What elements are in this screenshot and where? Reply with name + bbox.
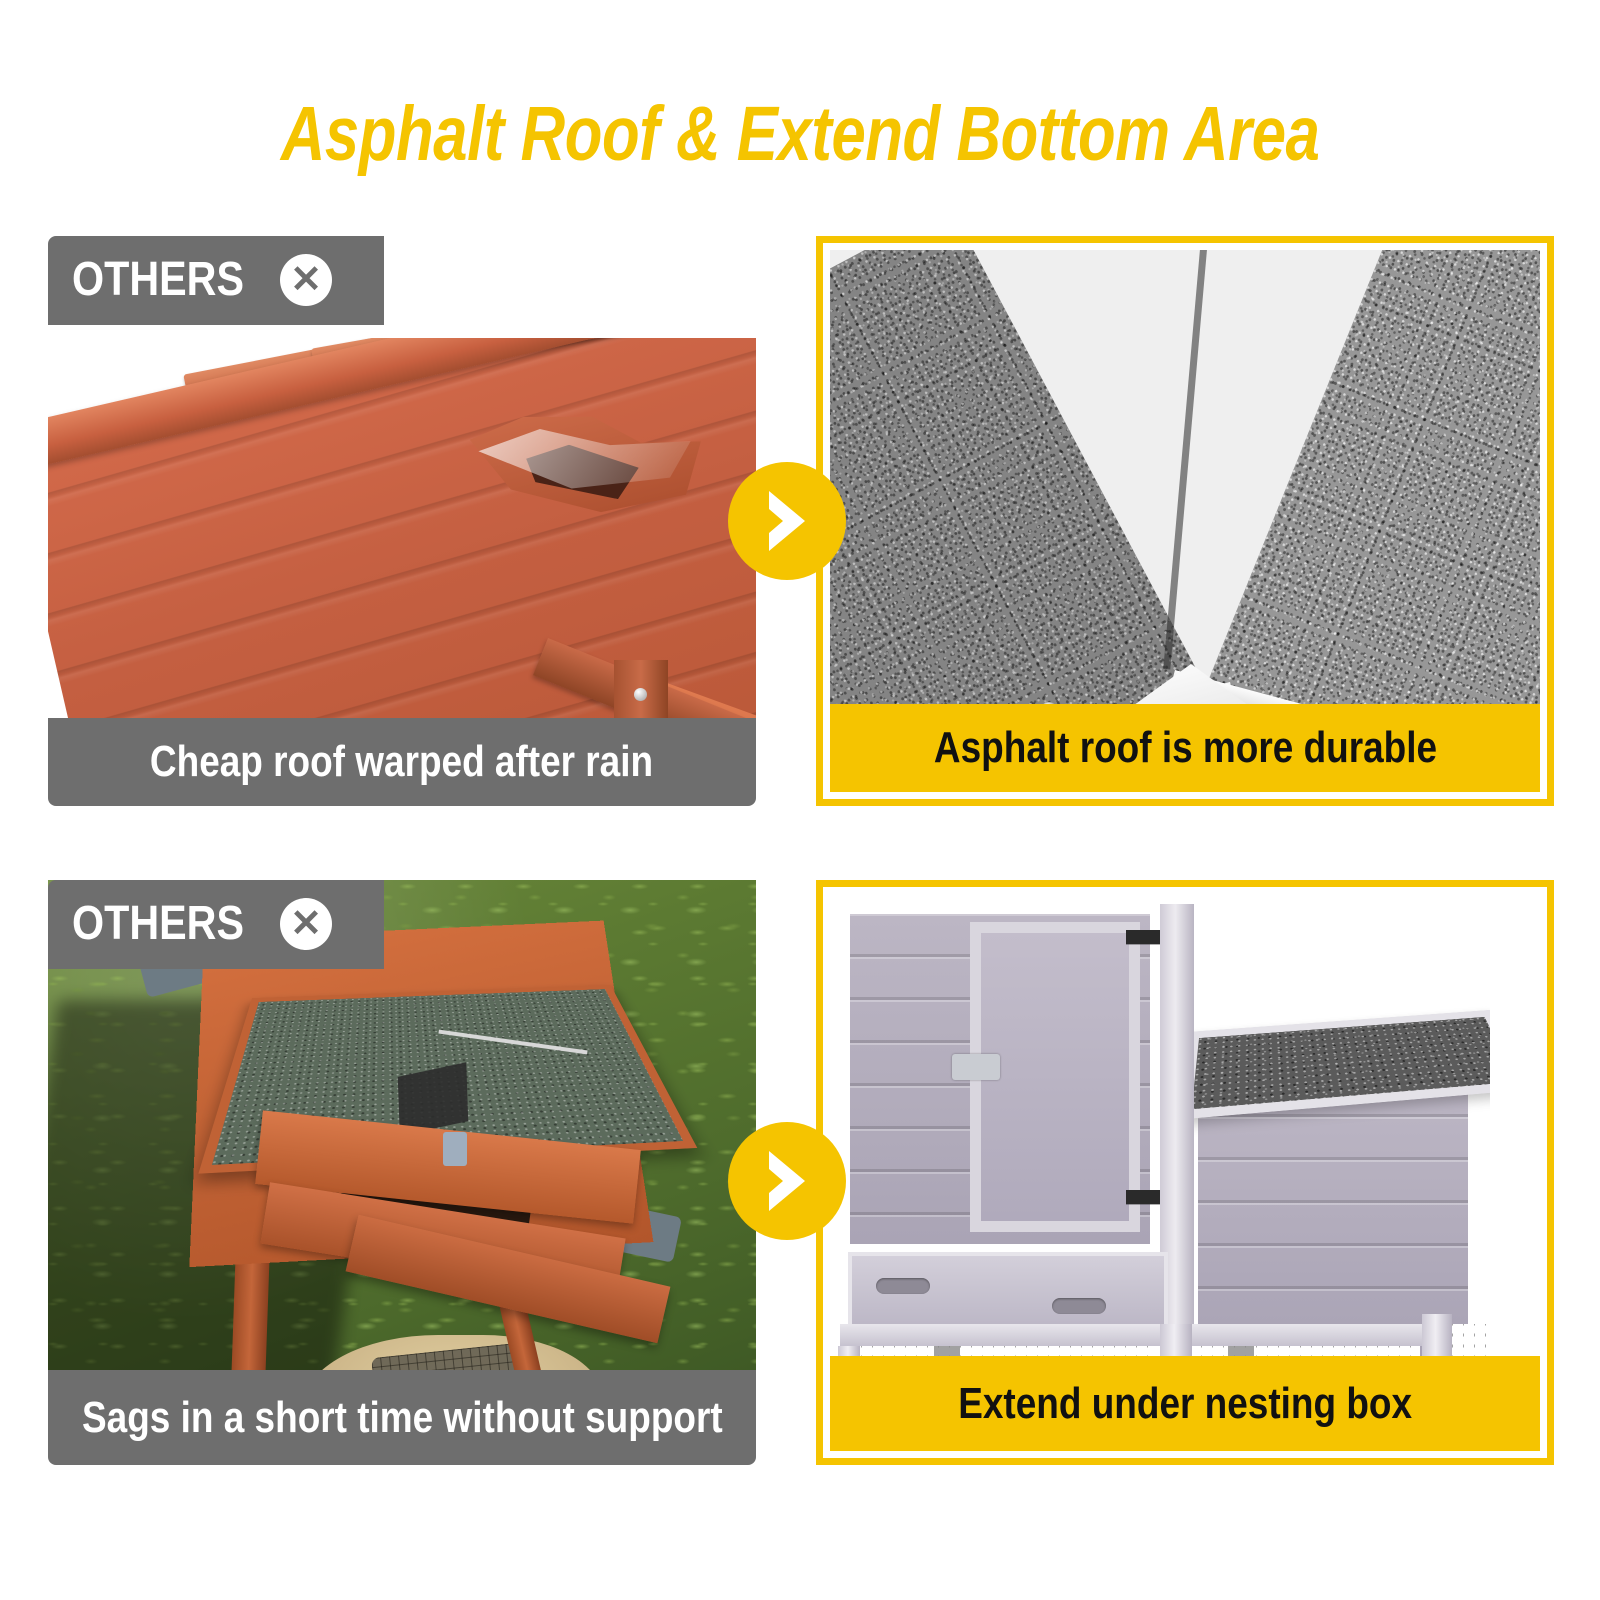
photo-extended-nesting-box (830, 894, 1540, 1363)
br-tray-handle (1052, 1298, 1106, 1314)
chevron-right-icon (728, 1122, 846, 1240)
caption-top-left-text: Cheap roof warped after rain (150, 737, 653, 787)
tl-screw (634, 688, 647, 701)
caption-bottom-left: Sags in a short time without support (48, 1370, 756, 1465)
caption-bottom-right-text: Extend under nesting box (958, 1379, 1412, 1429)
badge-others-bottom-left: OTHERS ✕ (48, 880, 384, 969)
br-door-latch (952, 1054, 1000, 1080)
x-mark-icon: ✕ (280, 254, 332, 306)
chevron-right-icon (728, 462, 846, 580)
photo-cheap-warped-roof (48, 338, 756, 718)
br-nesting-box-roof (1177, 1010, 1533, 1120)
badge-others-label: OTHERS (72, 896, 244, 951)
photo-asphalt-roof (830, 250, 1540, 711)
page-title-container: Asphalt Roof & Extend Bottom Area (0, 84, 1600, 184)
br-scene (830, 894, 1540, 1363)
caption-top-left: Cheap roof warped after rain (48, 718, 756, 806)
tr-scene (830, 250, 1540, 711)
x-mark-icon: ✕ (280, 898, 332, 950)
page-title: Asphalt Roof & Extend Bottom Area (281, 90, 1320, 179)
badge-others-label: OTHERS (72, 252, 244, 307)
caption-bottom-right: Extend under nesting box (830, 1356, 1540, 1451)
caption-top-right: Asphalt roof is more durable (830, 704, 1540, 792)
badge-others-top-left: OTHERS ✕ (48, 236, 384, 325)
tr-roof-right-slope (1160, 250, 1540, 711)
br-tray-handle (876, 1278, 930, 1294)
panel-top-left: OTHERS ✕ Cheap roof warped after rain (48, 236, 756, 806)
panel-bottom-right: Extend under nesting box (816, 880, 1554, 1465)
tl-scene (48, 338, 756, 718)
br-background-mask (1490, 894, 1540, 1363)
panel-bottom-left: OTHERS ✕ Sags in a short time without su… (48, 880, 756, 1465)
infographic-root: Asphalt Roof & Extend Bottom Area (0, 0, 1600, 1600)
bl-latch (443, 1132, 467, 1166)
caption-bottom-left-text: Sags in a short time without support (82, 1393, 723, 1443)
panel-top-right: Asphalt roof is more durable (816, 236, 1554, 806)
tr-ridge-seam (1163, 250, 1207, 669)
caption-top-right-text: Asphalt roof is more durable (933, 723, 1436, 773)
tr-roof-left-slope (830, 250, 1250, 711)
